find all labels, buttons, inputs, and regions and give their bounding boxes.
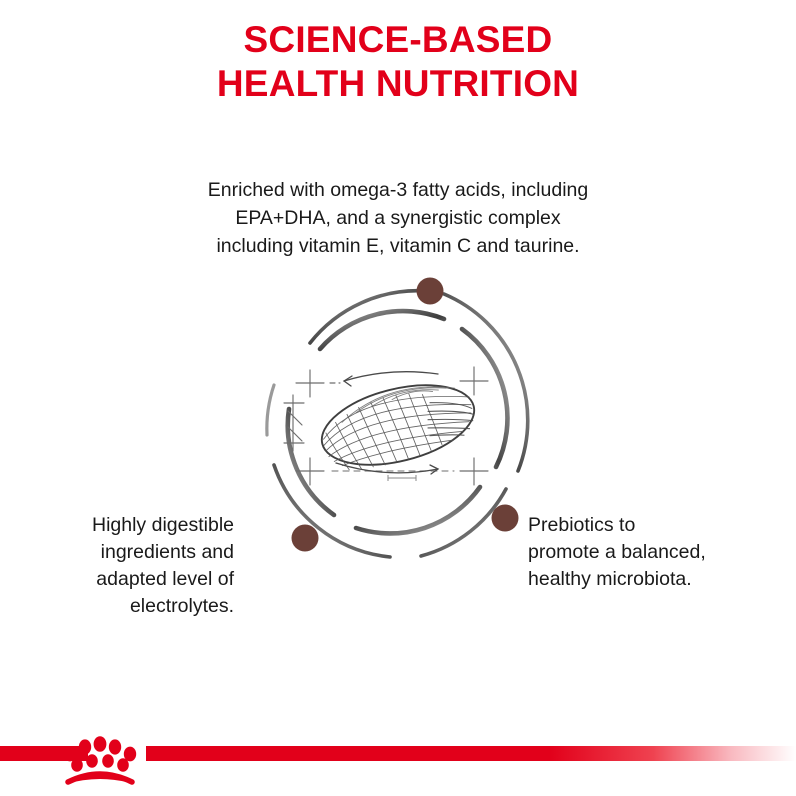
scale-tick (388, 475, 416, 481)
caption-left-line-2: ingredients and (10, 539, 234, 566)
caption-right-line-2: promote a balanced, (528, 539, 776, 566)
emblem-dot-top (417, 278, 444, 305)
intro-paragraph: Enriched with omega-3 fatty acids, inclu… (0, 176, 796, 260)
kibble-outline (314, 371, 483, 479)
caption-right-line-1: Prebiotics to (528, 512, 776, 539)
caption-left-line-3: adapted level of (10, 566, 234, 593)
emblem-dot-bottom-right (492, 505, 519, 532)
kibble-emblem (248, 275, 548, 575)
royal-canin-crown-icon (54, 732, 146, 788)
footer-brand-band (0, 736, 796, 796)
caption-right-line-3: healthy microbiota. (528, 566, 776, 593)
caption-right: Prebiotics to promote a balanced, health… (528, 512, 776, 593)
intro-line-2: EPA+DHA, and a synergistic complex (0, 204, 796, 232)
headline-line-2: HEALTH NUTRITION (0, 62, 796, 106)
caption-left: Highly digestible ingredients and adapte… (10, 512, 234, 620)
footer-bar-right (146, 746, 796, 761)
caption-left-line-1: Highly digestible (10, 512, 234, 539)
emblem-dot-bottom-left (292, 525, 319, 552)
intro-line-3: including vitamin E, vitamin C and tauri… (0, 232, 796, 260)
page-title: SCIENCE-BASED HEALTH NUTRITION (0, 18, 796, 106)
caption-left-line-4: electrolytes. (10, 593, 234, 620)
headline-line-1: SCIENCE-BASED (244, 19, 553, 60)
kibble-sketch-icon (284, 367, 488, 485)
intro-line-1: Enriched with omega-3 fatty acids, inclu… (0, 176, 796, 204)
infographic-canvas: SCIENCE-BASED HEALTH NUTRITION Enriched … (0, 0, 796, 796)
